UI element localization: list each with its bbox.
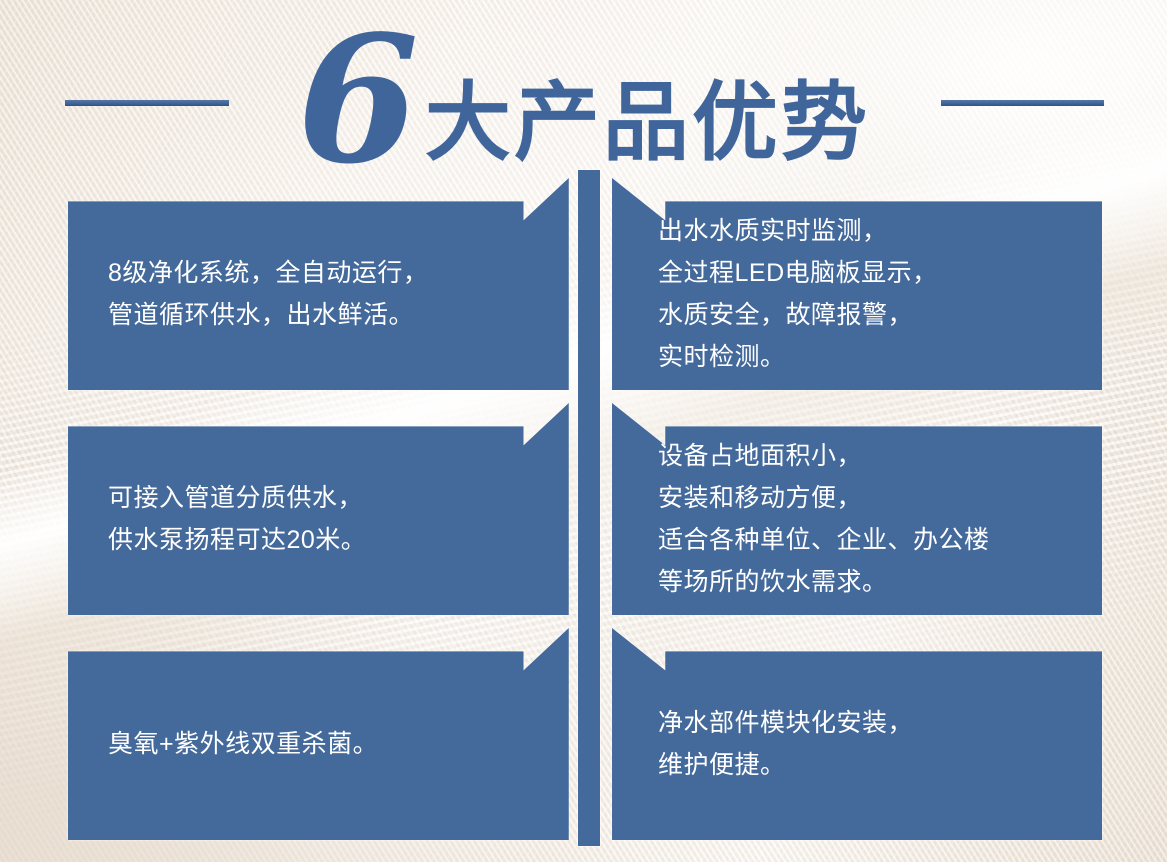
feature-card-1[interactable]: 8级净化系统，全自动运行， 管道循环供水，出水鲜活。 bbox=[68, 178, 588, 390]
feature-card-2[interactable]: 出水水质实时监测， 全过程LED电脑板显示， 水质安全，故障报警， 实时检测。 bbox=[590, 178, 1102, 390]
page-title: 6 大产品优势 bbox=[0, 0, 1167, 178]
feature-card-5[interactable]: 臭氧+紫外线双重杀菌。 bbox=[68, 628, 588, 840]
feature-card-3-text: 可接入管道分质供水， 供水泵扬程可达20米。 bbox=[108, 477, 478, 561]
feature-card-3[interactable]: 可接入管道分质供水， 供水泵扬程可达20米。 bbox=[68, 403, 588, 615]
feature-card-5-text: 臭氧+紫外线双重杀菌。 bbox=[108, 723, 478, 765]
infographic-page: 6 大产品优势 8级净化系统，全自动运行， 管道循环供水，出水鲜活。 出水水质实… bbox=[0, 0, 1167, 862]
title-text: 大产品优势 bbox=[425, 82, 870, 164]
page-header: 6 大产品优势 bbox=[0, 0, 1167, 178]
feature-card-6-text: 净水部件模块化安装， 维护便捷。 bbox=[658, 702, 1076, 786]
feature-card-6[interactable]: 净水部件模块化安装， 维护便捷。 bbox=[590, 628, 1102, 840]
title-number: 6 bbox=[297, 26, 415, 177]
feature-card-1-text: 8级净化系统，全自动运行， 管道循环供水，出水鲜活。 bbox=[108, 252, 478, 336]
feature-card-4[interactable]: 设备占地面积小， 安装和移动方便， 适合各种单位、企业、办公楼 等场所的饮水需求… bbox=[590, 403, 1102, 615]
feature-card-2-text: 出水水质实时监测， 全过程LED电脑板显示， 水质安全，故障报警， 实时检测。 bbox=[658, 210, 1076, 378]
feature-card-4-text: 设备占地面积小， 安装和移动方便， 适合各种单位、企业、办公楼 等场所的饮水需求… bbox=[658, 435, 1076, 603]
